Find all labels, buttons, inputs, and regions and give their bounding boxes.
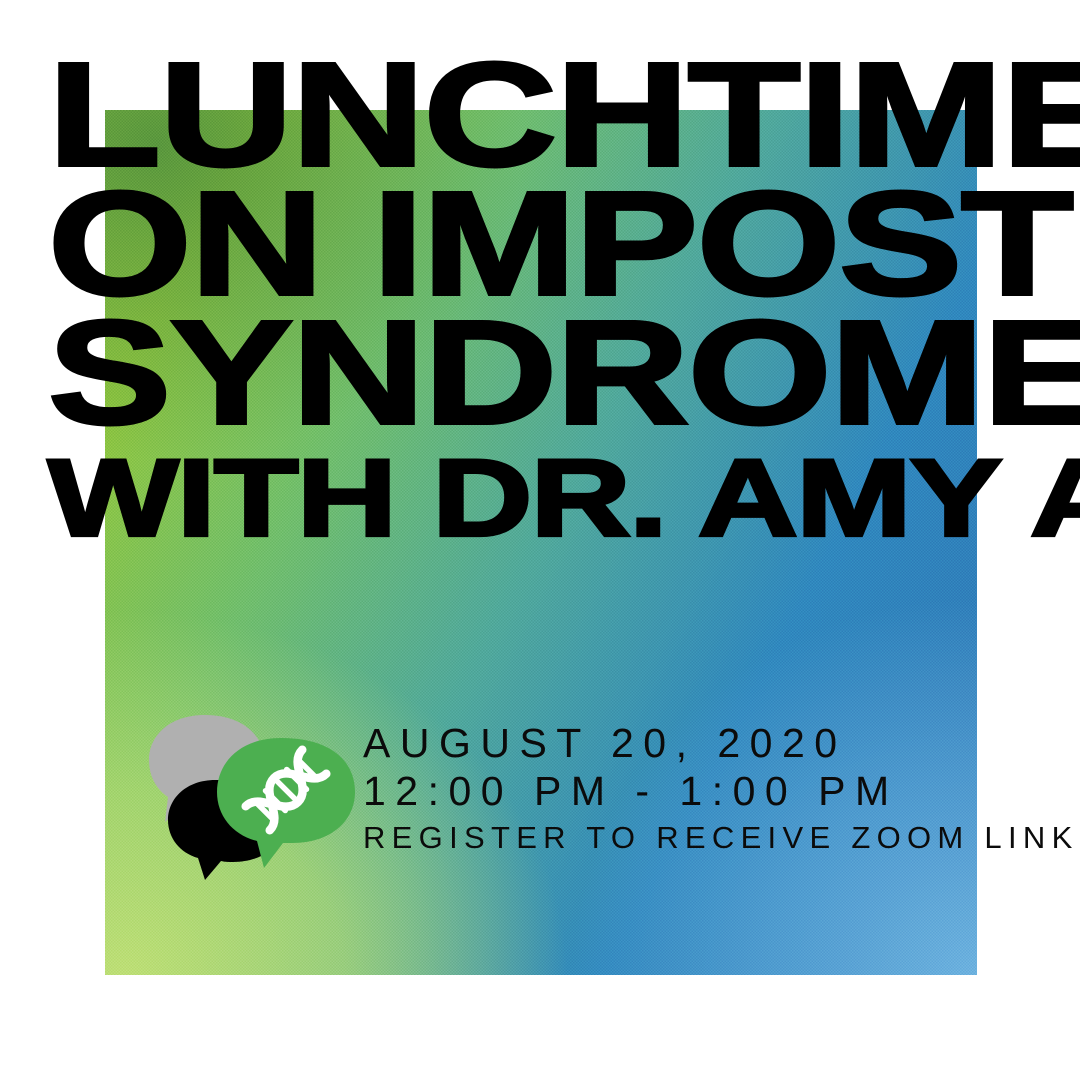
page-title: LUNCHTIME TALK ON IMPOSTER SYNDROME WITH… [48,56,1008,543]
register-note: REGISTER TO RECEIVE ZOOM LINK [363,822,1079,854]
event-details: AUGUST 20, 2020 12:00 PM - 1:00 PM REGIS… [363,723,1079,853]
speech-bubbles-dna-logo [143,712,358,880]
event-time: 12:00 PM - 1:00 PM [363,771,1079,813]
headline-subtitle: WITH DR. AMY AHLFELD [48,450,1080,548]
event-flyer: LUNCHTIME TALK ON IMPOSTER SYNDROME WITH… [0,0,1080,1080]
headline-line-3: SYNDROME [48,306,1080,439]
event-date: AUGUST 20, 2020 [363,723,1079,765]
